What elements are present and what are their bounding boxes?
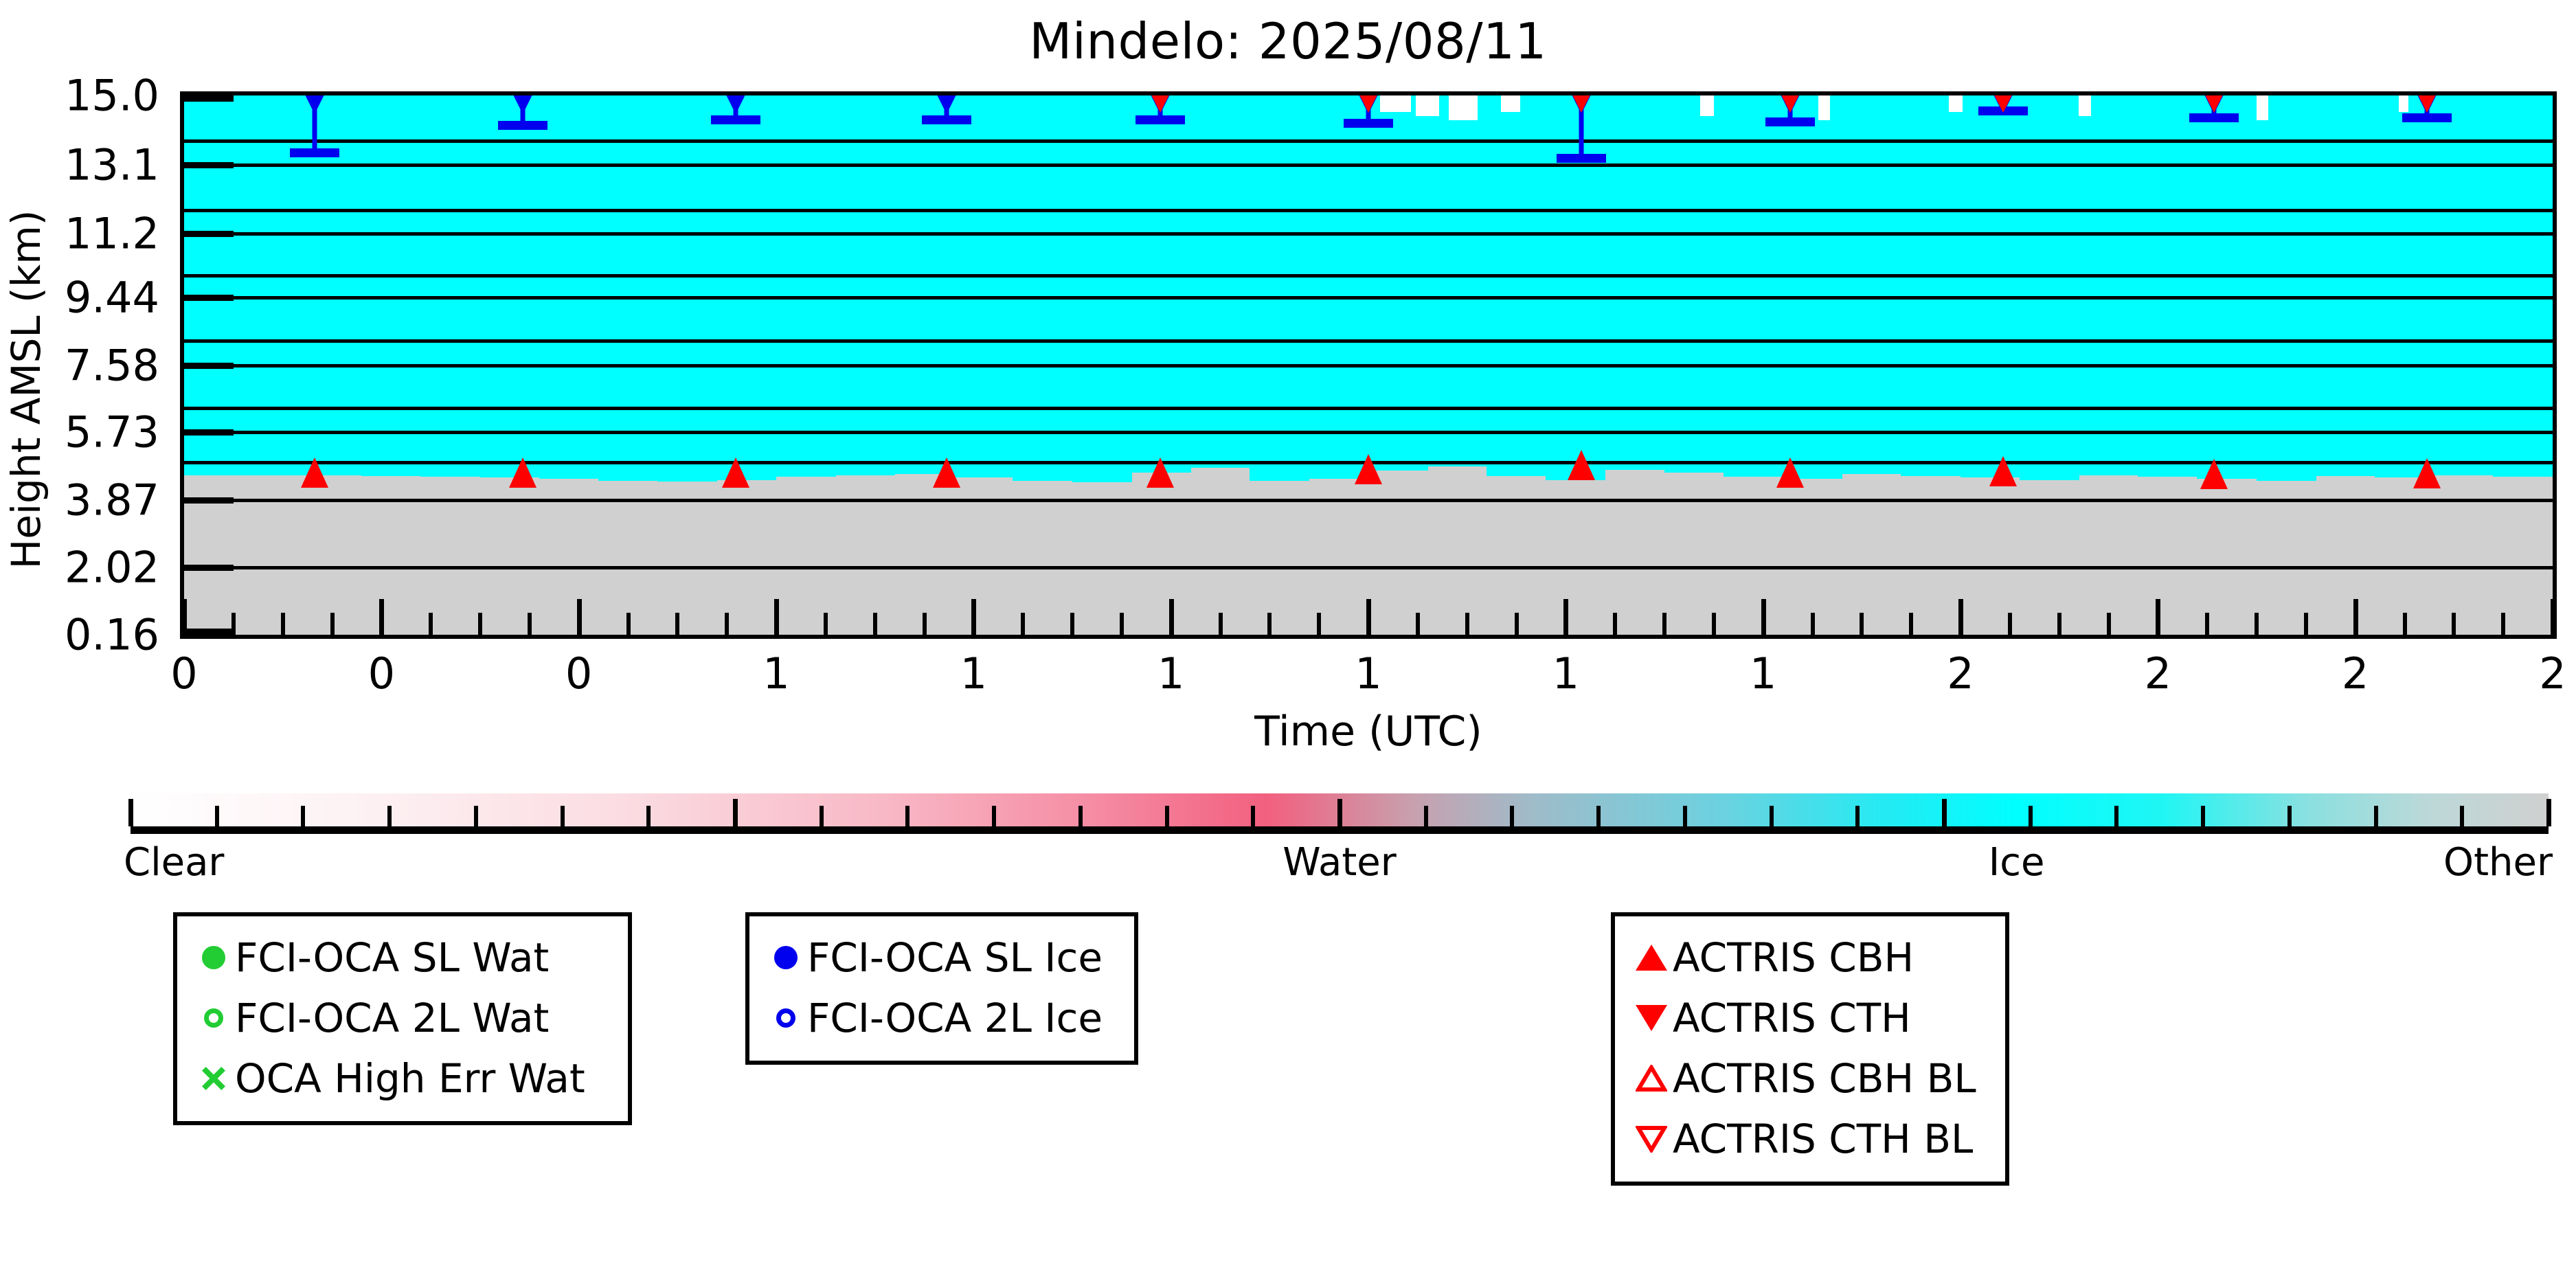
y-axis-tick-label: 7.58 (0, 340, 159, 390)
x-axis-tick-label: 2 (1906, 648, 2015, 699)
colorbar-tick (1165, 806, 1169, 826)
colorbar-tick (905, 806, 909, 826)
classification-ice-column (657, 95, 717, 482)
x-axis-tick-minor (1317, 613, 1321, 635)
x-axis-tick-label: 0 (129, 648, 239, 699)
filled-circle-icon (192, 946, 235, 969)
colorbar-tick (2460, 806, 2464, 826)
legend-item-label: FCI-OCA 2L Wat (235, 998, 549, 1038)
classification-ice-column (1131, 95, 1191, 473)
x-axis-tick-major (971, 599, 976, 635)
x-axis-tick-major (1761, 599, 1766, 635)
fci-oca-sl-ice-marker (510, 91, 536, 114)
triangle-up-icon (1630, 945, 1673, 971)
cloud-free-gap (1700, 95, 1715, 116)
x-axis-tick-minor (1267, 613, 1272, 635)
classification-ice-column (598, 95, 658, 481)
x-axis-tick-minor (824, 613, 828, 635)
classification-ice-column (894, 95, 954, 474)
x-axis-tick-label: 0 (524, 648, 634, 699)
colorbar-tick (474, 806, 478, 826)
x-axis-tick-minor (528, 613, 532, 635)
error-bar-cap (2402, 113, 2452, 122)
colorbar-tick (646, 806, 651, 826)
x-axis-tick-minor (1662, 613, 1667, 635)
x-axis-tick-minor (1909, 613, 1913, 635)
water-legend: FCI-OCA SL WatFCI-OCA 2L WatOCA High Err… (173, 912, 632, 1125)
gridline-horizontal (184, 431, 2553, 434)
legend-item[interactable]: ACTRIS CBH BL (1630, 1048, 1987, 1109)
colorbar-axis-line (131, 826, 2549, 834)
classification-ice-column (1309, 95, 1368, 479)
y-axis-tick (184, 629, 234, 635)
x-axis-tick-label: 2 (2103, 648, 2213, 699)
colorbar-tick (2374, 806, 2378, 826)
colorbar-tick (1770, 806, 1774, 826)
x-axis-tick-major (577, 599, 582, 635)
gridline-horizontal (184, 274, 2553, 278)
colorbar-tick (2287, 806, 2292, 826)
colorbar-tick (1596, 806, 1601, 826)
actris-cbh-marker (722, 457, 749, 488)
error-bar-cap (1344, 119, 1393, 128)
colorbar-tick (992, 806, 996, 826)
classification-ice-column (2493, 95, 2553, 477)
y-axis-tick (184, 565, 234, 571)
y-axis-tick-label: 5.73 (0, 407, 159, 457)
classification-ice-column (1487, 95, 1546, 476)
fci-oca-sl-ice-marker (302, 91, 328, 114)
x-axis-tick-major (2156, 599, 2160, 635)
x-axis-tick-minor (478, 613, 482, 635)
x-axis-tick-label: 1 (918, 648, 1028, 699)
fci-oca-sl-ice-marker (723, 91, 749, 114)
legend-item[interactable]: OCA High Err Wat (192, 1048, 610, 1109)
classification-ice-column (1368, 95, 1428, 471)
colorbar-tick (1424, 806, 1428, 826)
colorbar-tick (387, 806, 392, 826)
error-bar-cap (290, 148, 339, 157)
x-axis-tick-major (379, 599, 384, 635)
x-axis-tick-minor (2008, 613, 2012, 635)
legend-item[interactable]: FCI-OCA 2L Wat (192, 988, 610, 1048)
colorbar-tick (2546, 799, 2551, 826)
x-axis-tick-minor (923, 613, 927, 635)
colorbar-tick (733, 799, 738, 826)
classification-ice-column (2375, 95, 2434, 477)
actris-cbh-marker (2200, 459, 2228, 489)
colorbar-tick (1337, 799, 1342, 826)
open-circle-icon (765, 1008, 807, 1028)
classification-ice-column (1072, 95, 1132, 482)
x-axis-tick-minor (2403, 613, 2407, 635)
page-title: Mindelo: 2025/08/11 (0, 12, 2576, 70)
actris-cth-marker (2202, 91, 2226, 113)
classification-ice-column (1961, 95, 2020, 477)
open-circle-icon (192, 1008, 235, 1028)
chart-root: Mindelo: 2025/08/11 Height AMSL (km) 15.… (0, 0, 2576, 1288)
colorbar-label: Other (2443, 840, 2553, 885)
actris-cth-marker (1357, 91, 1380, 113)
gridline-horizontal (184, 407, 2553, 410)
x-axis-tick-minor (1465, 613, 1469, 635)
x-axis-tick-minor (281, 613, 285, 635)
gridline-horizontal (184, 232, 2553, 236)
y-axis-tick (184, 295, 234, 301)
cloud-free-gap (2257, 95, 2268, 120)
colorbar-label: Clear (124, 840, 224, 885)
x-axis-tick-minor (1021, 613, 1025, 635)
plot-area[interactable] (180, 91, 2557, 639)
y-axis-tick (184, 429, 234, 436)
gridline-horizontal (184, 139, 2553, 143)
actris-cbh-marker (1146, 457, 1174, 488)
actris-legend: ACTRIS CBHACTRIS CTHACTRIS CBH BLACTRIS … (1611, 912, 2009, 1186)
classification-ice-column (1013, 95, 1072, 481)
error-bar-cap (1765, 117, 1815, 126)
triangle-down-icon (1630, 1005, 1673, 1031)
classification-ice-column (1190, 95, 1250, 468)
y-axis-tick-label: 3.87 (0, 475, 159, 525)
legend-item-label: ACTRIS CBH (1673, 938, 1914, 978)
error-bar-cap (711, 115, 760, 124)
x-axis-tick-minor (1120, 613, 1124, 635)
legend-item-label: ACTRIS CBH BL (1673, 1059, 1976, 1098)
colorbar-tick (1942, 799, 1947, 826)
x-axis-tick-major (1366, 599, 1371, 635)
cloud-free-gap (1818, 95, 1830, 120)
legend-item-label: FCI-OCA SL Wat (235, 938, 549, 978)
colorbar-tick (301, 806, 305, 826)
actris-cbh-marker (1355, 454, 1382, 484)
colorbar-label: Ice (1989, 840, 2045, 885)
colorbar-tick (128, 799, 133, 826)
triangle-up-outline-icon (1630, 1065, 1673, 1092)
error-bar-cap (498, 121, 547, 130)
classification-ice-column (2316, 95, 2375, 476)
cloud-free-gap (1380, 95, 1411, 112)
y-axis-tick-label: 15.0 (0, 71, 159, 121)
x-axis-tick-minor (1219, 613, 1223, 635)
x-axis-tick-minor (2255, 613, 2259, 635)
x-axis-tick-minor (231, 613, 236, 635)
x-axis-tick-major (774, 599, 779, 635)
x-axis-title: Time (UTC) (180, 708, 2557, 756)
x-axis-tick-minor (2107, 613, 2111, 635)
legend-item-label: FCI-OCA 2L Ice (807, 998, 1103, 1038)
x-axis-tick-label: 1 (721, 648, 831, 699)
x-axis-tick-minor (1613, 613, 1617, 635)
actris-cbh-marker (1568, 450, 1595, 480)
x-axis-tick-major (2551, 599, 2555, 635)
colorbar-tick (820, 806, 824, 826)
x-axis-tick-minor (2304, 613, 2308, 635)
cloud-free-gap (2079, 95, 2090, 116)
x-axis-tick-minor (1860, 613, 1864, 635)
error-bar-cap (1557, 154, 1606, 163)
x-axis-tick-label: 1 (1116, 648, 1226, 699)
classification-ice-column (2434, 95, 2494, 475)
colorbar-tick (1251, 806, 1255, 826)
x-axis-tick-minor (873, 613, 877, 635)
classification-ice-column (184, 95, 244, 475)
x-axis-tick-minor (675, 613, 679, 635)
x-axis-tick-minor (1070, 613, 1074, 635)
cloud-free-gap (1501, 95, 1520, 112)
x-axis-tick-label: 1 (1313, 648, 1423, 699)
classification-ice-column (1842, 95, 1901, 474)
error-bar-cap (922, 115, 971, 124)
legend-item[interactable]: FCI-OCA 2L Ice (765, 988, 1116, 1048)
y-axis-tick-label: 11.2 (0, 209, 159, 259)
colorbar-tick (2029, 806, 2033, 826)
classification-ice-column (2079, 95, 2138, 475)
colorbar: ClearWaterIceOther (131, 793, 2549, 826)
triangle-down-outline-icon (1630, 1125, 1673, 1153)
actris-cbh-marker (1989, 456, 2017, 486)
x-axis-tick-major (182, 599, 187, 635)
actris-cth-marker (2415, 91, 2439, 113)
actris-cth-marker (1778, 91, 1802, 113)
y-axis-tick (184, 231, 234, 237)
x-axis-tick-label: 1 (1708, 648, 1818, 699)
x-axis-tick-label: 0 (326, 648, 436, 699)
legend-item-label: ACTRIS CTH (1673, 998, 1911, 1038)
y-axis-tick-label: 13.1 (0, 139, 159, 190)
classification-ice-column (953, 95, 1013, 477)
error-bar-cap (2189, 113, 2239, 122)
actris-cth-marker (1149, 91, 1172, 113)
legend-item[interactable]: FCI-OCA SL Ice (765, 927, 1116, 988)
classification-ice-column (776, 95, 836, 477)
ice-legend: FCI-OCA SL IceFCI-OCA 2L Ice (745, 912, 1138, 1065)
x-axis-tick-minor (1416, 613, 1420, 635)
classification-ice-column (2138, 95, 2197, 477)
x-axis-tick-minor (1712, 613, 1716, 635)
colorbar-tick (1683, 806, 1687, 826)
colorbar-label: Water (1283, 840, 1397, 885)
colorbar-tick (1510, 806, 1514, 826)
y-axis-tick (184, 95, 234, 102)
gridline-horizontal (184, 339, 2553, 343)
colorbar-tick (2201, 806, 2205, 826)
classification-ice-column (1605, 95, 1664, 470)
legend-item[interactable]: ACTRIS CTH (1630, 988, 1987, 1048)
x-axis-tick-major (1169, 599, 1174, 635)
error-bar-cap (1136, 115, 1185, 124)
gridline-horizontal (184, 566, 2553, 569)
cloud-free-gap (1449, 95, 1477, 120)
x-axis-tick-minor (2205, 613, 2209, 635)
x-cross-icon (192, 1065, 235, 1092)
x-axis-tick-major (2353, 599, 2358, 635)
classification-ice-column (2257, 95, 2316, 481)
gridline-horizontal (184, 364, 2553, 368)
colorbar-tick (2114, 806, 2119, 826)
y-axis-tick (184, 162, 234, 168)
cloud-free-gap (2399, 95, 2408, 112)
gridline-horizontal (184, 163, 2553, 167)
legend-item[interactable]: ACTRIS CBH (1630, 927, 1987, 988)
legend-item-label: ACTRIS CTH BL (1673, 1119, 1973, 1159)
gridline-horizontal (184, 296, 2553, 300)
x-axis-tick-minor (1515, 613, 1519, 635)
x-axis-tick-label: 1 (1511, 648, 1620, 699)
classification-ice-column (539, 95, 599, 479)
colorbar-tick (215, 806, 219, 826)
y-axis-tick-label: 2.02 (0, 542, 159, 592)
colorbar-tick (1855, 806, 1860, 826)
x-axis-tick-label: 2 (2498, 648, 2576, 699)
classification-ice-column (1783, 95, 1842, 479)
x-axis-tick-minor (2452, 613, 2456, 635)
gridline-horizontal (184, 209, 2553, 212)
classification-ice-column (716, 95, 776, 480)
x-axis-tick-minor (725, 613, 729, 635)
actris-cbh-marker (2413, 458, 2441, 488)
legend-item[interactable]: ACTRIS CTH BL (1630, 1109, 1987, 1169)
classification-ice-column (835, 95, 895, 475)
legend-item[interactable]: FCI-OCA SL Wat (192, 927, 610, 988)
actris-cth-marker (1570, 91, 1593, 113)
classification-ice-column (1724, 95, 1783, 477)
legend-item-label: OCA High Err Wat (235, 1059, 585, 1098)
gridline-horizontal (184, 499, 2553, 502)
cloud-free-gap (1949, 95, 1963, 112)
cloud-free-gap (1416, 95, 1439, 116)
actris-cbh-marker (1776, 457, 1804, 488)
actris-cbh-marker (509, 457, 536, 488)
colorbar-tick (561, 806, 565, 826)
actris-cbh-marker (933, 457, 960, 488)
x-axis-tick-minor (626, 613, 631, 635)
colorbar-tick (1078, 806, 1083, 826)
y-axis-tick (184, 497, 234, 504)
x-axis-tick-minor (2501, 613, 2505, 635)
classification-ice-column (420, 95, 480, 477)
x-axis-tick-minor (1811, 613, 1815, 635)
x-axis-tick-minor (2057, 613, 2061, 635)
classification-ice-column (480, 95, 540, 477)
actris-cbh-marker (301, 457, 328, 488)
actris-cth-marker (1991, 91, 2015, 113)
classification-ice-column (2020, 95, 2079, 480)
x-axis-tick-minor (429, 613, 433, 635)
plot-inner (184, 95, 2553, 635)
x-axis-tick-major (1958, 599, 1963, 635)
y-axis-tick (184, 363, 234, 369)
classification-ice-column (1250, 95, 1309, 481)
filled-circle-icon (765, 946, 807, 969)
y-axis-tick-label: 9.44 (0, 273, 159, 323)
fci-oca-sl-ice-marker (934, 91, 960, 114)
classification-ice-column (1901, 95, 1961, 476)
classification-ice-column (2197, 95, 2257, 479)
x-axis-tick-major (1563, 599, 1568, 635)
classification-ice-column (361, 95, 421, 476)
classification-ice-column (1427, 95, 1487, 466)
x-axis-tick-minor (330, 613, 335, 635)
classification-ice-column (1664, 95, 1724, 473)
legend-item-label: FCI-OCA SL Ice (807, 938, 1103, 978)
x-axis-tick-label: 2 (2301, 648, 2410, 699)
